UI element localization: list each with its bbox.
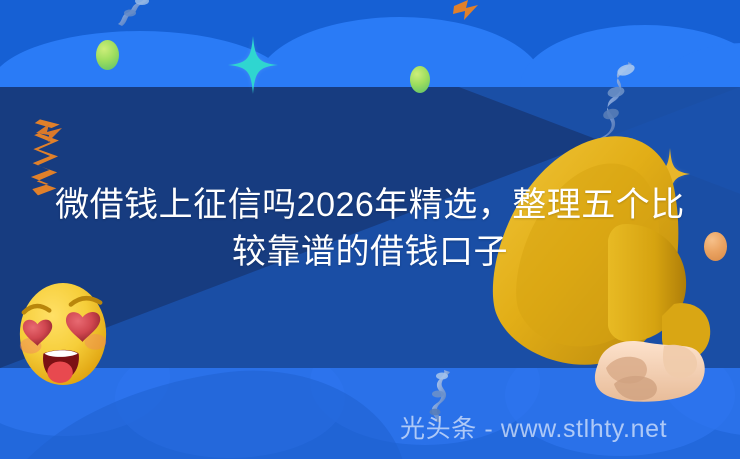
oval-green-icon [410, 66, 430, 93]
hill-shape [255, 17, 545, 87]
confetti-arrow-icon [452, 0, 480, 22]
spiral-ribbon-top-icon [118, 0, 152, 32]
sparkle-cyan-icon [228, 36, 278, 94]
spiral-ribbon-bottom-icon [428, 370, 454, 422]
spiral-ribbon-right-icon [598, 62, 642, 138]
confetti-chevron-icon [36, 124, 62, 142]
emoji-heart-eyes-icon [14, 281, 112, 387]
oval-green-icon [96, 40, 119, 70]
banner-title: 微借钱上征信吗2026年精选，整理五个比较靠谱的借钱口子 [40, 182, 700, 276]
promo-banner: 微借钱上征信吗2026年精选，整理五个比较靠谱的借钱口子 光头条 - www.s… [0, 0, 740, 459]
